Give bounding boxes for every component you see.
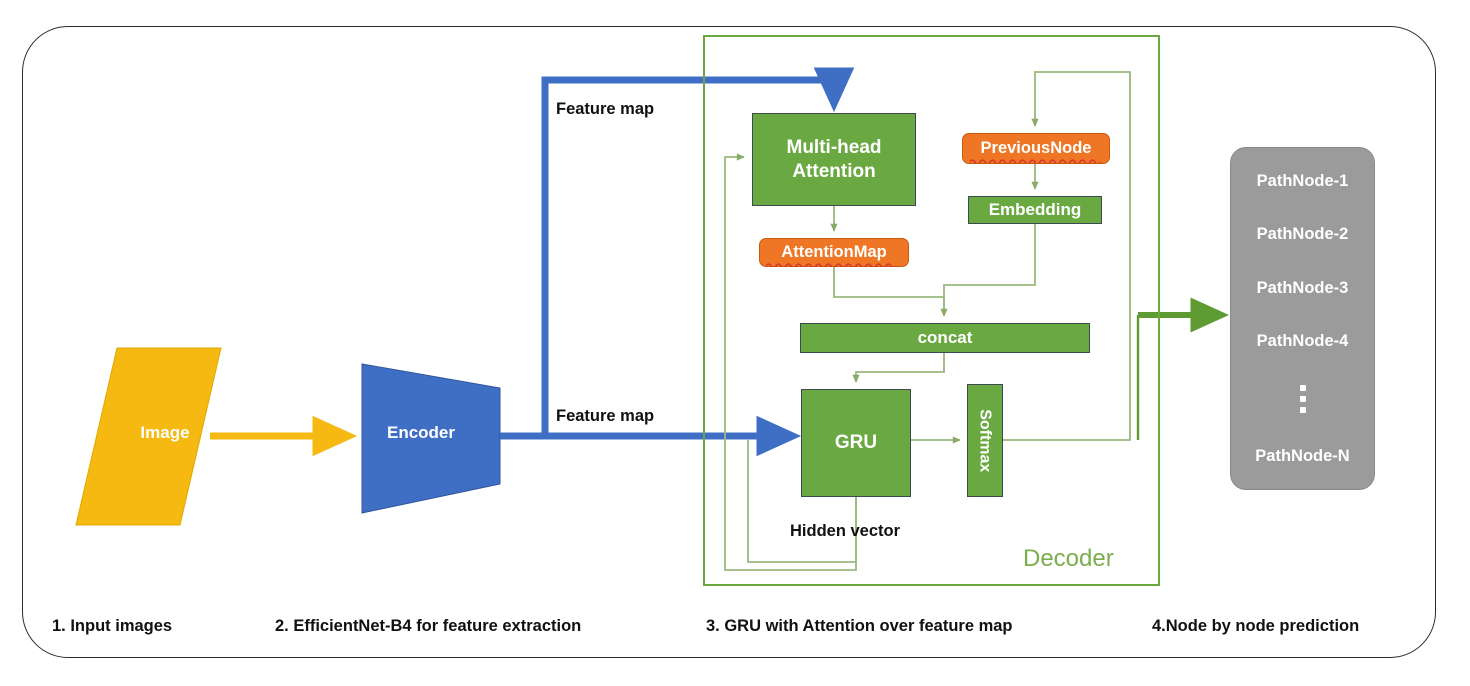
concat-label: concat: [918, 328, 973, 349]
diagram-canvas: Decoder Image Encoder Multi-head Attenti…: [0, 0, 1470, 686]
hidden-vector-label: Hidden vector: [790, 522, 900, 541]
concat-node[interactable]: concat: [800, 323, 1090, 353]
embedding-label: Embedding: [989, 200, 1082, 221]
decoder-label: Decoder: [1023, 545, 1114, 573]
attention-map-label: AttentionMap: [781, 242, 886, 262]
list-item: PathNode-2: [1231, 224, 1374, 244]
encoder-shape-label: Encoder: [371, 423, 471, 443]
vertical-ellipsis-icon: [1300, 385, 1306, 413]
gru-node[interactable]: GRU: [801, 389, 911, 497]
softmax-node[interactable]: Softmax: [967, 384, 1003, 497]
previous-node-label: PreviousNode: [981, 138, 1092, 158]
caption-stage-3: 3. GRU with Attention over feature map: [706, 617, 1013, 636]
feature-map-top-label: Feature map: [556, 100, 654, 119]
multi-head-attention-node[interactable]: Multi-head Attention: [752, 113, 916, 206]
list-item: PathNode-1: [1231, 171, 1374, 191]
gru-label: GRU: [835, 431, 877, 454]
list-item: PathNode-4: [1231, 331, 1374, 351]
list-item: PathNode-N: [1231, 446, 1374, 466]
list-item: PathNode-3: [1231, 278, 1374, 298]
mha-label-line1: Multi-head: [787, 137, 882, 158]
mha-label-line2: Attention: [792, 161, 875, 182]
previous-node-spellcheck-underline: [970, 158, 1102, 163]
softmax-label: Softmax: [975, 409, 995, 472]
path-node-list[interactable]: PathNode-1 PathNode-2 PathNode-3 PathNod…: [1230, 147, 1375, 490]
feature-map-bottom-label: Feature map: [556, 407, 654, 426]
embedding-node[interactable]: Embedding: [968, 196, 1102, 224]
image-shape-label: Image: [120, 423, 210, 443]
caption-stage-4: 4.Node by node prediction: [1152, 617, 1359, 636]
caption-stage-2: 2. EfficientNet-B4 for feature extractio…: [275, 617, 581, 636]
caption-stage-1: 1. Input images: [52, 617, 172, 636]
attention-map-spellcheck-underline: [766, 262, 900, 267]
